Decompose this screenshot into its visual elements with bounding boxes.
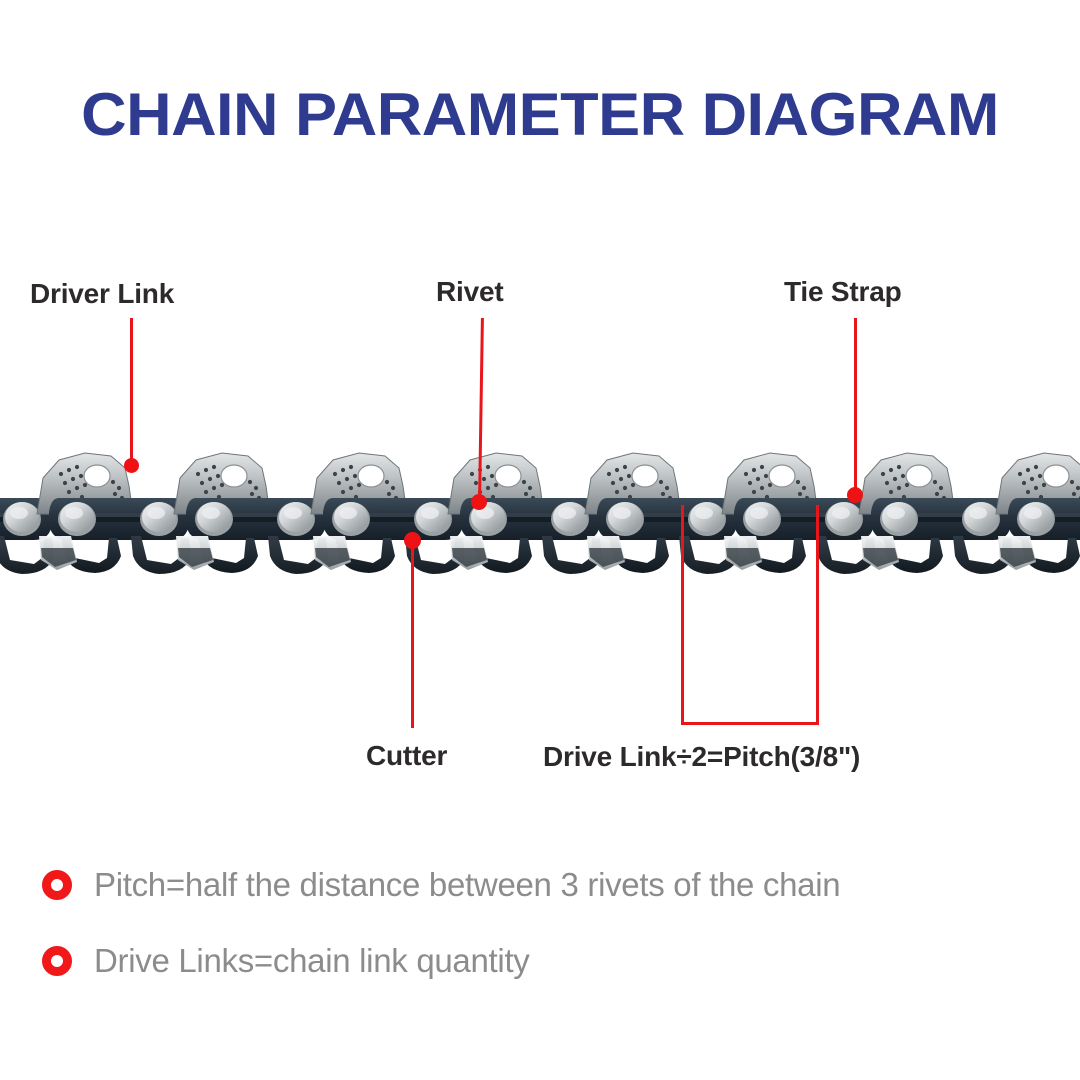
label-rivet: Rivet	[436, 276, 503, 308]
red-ring-bullet-icon	[42, 870, 72, 900]
leader-dot-driver-link	[124, 458, 139, 473]
leader-dot-tie-strap	[847, 487, 863, 503]
label-driver-link: Driver Link	[30, 278, 174, 310]
list-item-label: Drive Links=chain link quantity	[94, 942, 530, 980]
pitch-bracket-left	[681, 505, 684, 725]
chainsaw-chain-image	[0, 420, 1080, 580]
page-title: CHAIN PARAMETER DIAGRAM	[0, 80, 1080, 149]
label-cutter: Cutter	[366, 740, 447, 772]
red-ring-bullet-icon	[42, 946, 72, 976]
diagram-canvas: CHAIN PARAMETER DIAGRAM	[0, 0, 1080, 1080]
label-pitch-formula: Drive Link÷2=Pitch(3/8")	[543, 741, 860, 773]
leader-line-tie-strap	[854, 318, 857, 498]
label-tie-strap: Tie Strap	[784, 276, 902, 308]
leader-dot-cutter	[404, 532, 421, 549]
pitch-bracket-right	[816, 505, 819, 725]
chain-svg	[0, 420, 1080, 580]
definition-list: Pitch=half the distance between 3 rivets…	[42, 866, 1042, 1018]
list-item: Pitch=half the distance between 3 rivets…	[42, 866, 1042, 904]
list-item: Drive Links=chain link quantity	[42, 942, 1042, 980]
leader-line-driver-link	[130, 318, 133, 466]
pitch-bracket-bottom	[681, 722, 819, 725]
list-item-label: Pitch=half the distance between 3 rivets…	[94, 866, 840, 904]
leader-dot-rivet	[471, 494, 487, 510]
leader-line-cutter	[411, 540, 414, 728]
